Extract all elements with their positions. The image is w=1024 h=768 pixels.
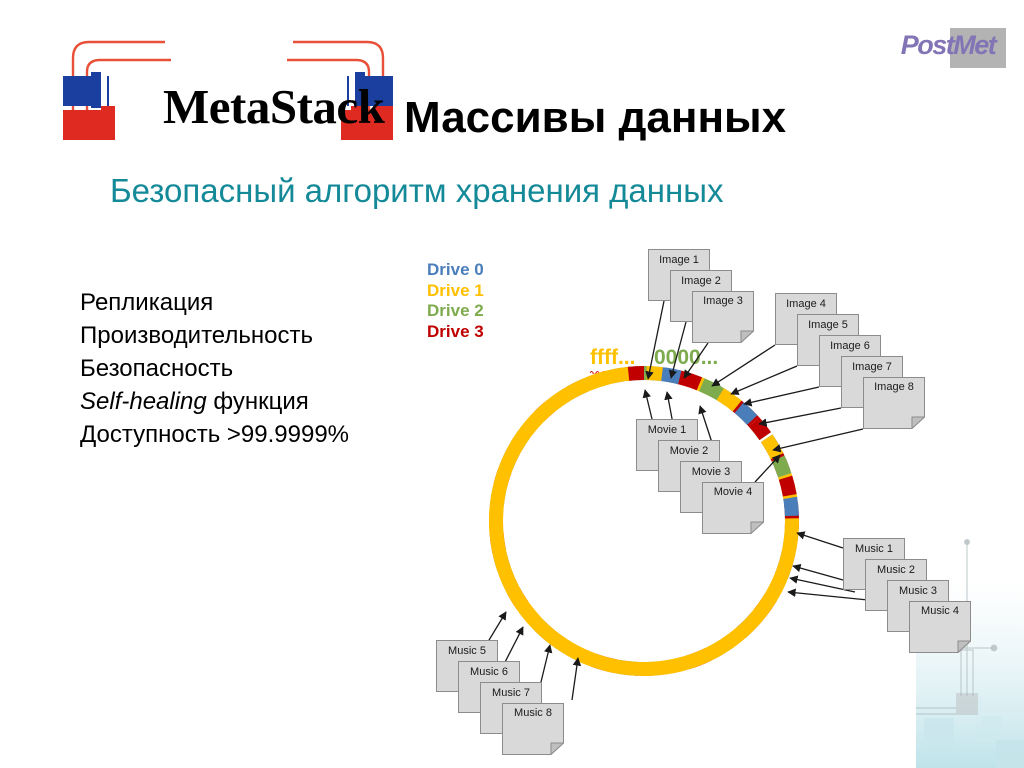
ring-segment — [735, 402, 758, 425]
ring-segment — [717, 388, 742, 411]
ring-segment — [770, 451, 791, 475]
ring-segment — [729, 397, 759, 426]
feature-label: Безопасность — [80, 355, 233, 382]
document-card-label: Image 3 — [692, 295, 754, 307]
document-card-label: Music 1 — [844, 543, 904, 555]
ring-segment — [498, 569, 518, 591]
ring-segment — [534, 401, 555, 422]
mapping-arrow — [793, 566, 843, 580]
feature-label: Репликация — [80, 289, 213, 316]
ring-segment — [549, 632, 572, 654]
legend-item-drive-1: Drive 1 — [427, 281, 484, 302]
spellcheck-squiggle-icon — [590, 370, 636, 374]
document-card-label: Image 5 — [798, 319, 858, 331]
hash-end-label: 0000... — [654, 346, 718, 370]
ring-segment — [494, 468, 512, 487]
mapping-arrow — [572, 658, 578, 700]
ring-segment — [567, 643, 594, 666]
page-title: Массивы данных — [404, 93, 786, 143]
document-card-label: Image 4 — [776, 298, 836, 310]
hash-start-text: ffff... — [590, 346, 635, 369]
ring-segment — [519, 604, 541, 627]
ring-segment — [591, 653, 617, 673]
mapping-arrow — [744, 387, 819, 404]
mapping-arrow — [759, 408, 841, 424]
ring-segment — [549, 388, 572, 410]
document-card-label: Music 3 — [888, 585, 948, 597]
ring-segment — [754, 594, 777, 619]
document-card-label: Music 6 — [459, 666, 519, 678]
mapping-arrow — [797, 533, 843, 548]
document-card-label: Music 5 — [437, 645, 497, 657]
ring-segment — [664, 368, 682, 385]
ring-segment — [680, 371, 702, 390]
metastack-logo: MetaStack — [55, 28, 415, 148]
postmet-logo: PostMet — [890, 28, 1006, 68]
metastack-wordmark: MetaStack — [163, 78, 384, 135]
hash-start-label: ffff... — [590, 346, 635, 370]
feature-label-emphasis: Self-healing — [80, 388, 207, 415]
feature-label: Производительность — [80, 322, 313, 349]
ring-segment — [766, 576, 787, 598]
document-card-label: Music 2 — [866, 564, 926, 576]
ring-segment — [782, 531, 798, 551]
ring-segment — [489, 507, 504, 529]
document-card-label: Music 7 — [481, 687, 541, 699]
slide-root: MetaStack PostMet Массивы данных Безопас… — [0, 0, 1024, 768]
ring-segment — [489, 531, 506, 553]
feature-item: Доступность >99.9999% — [80, 418, 349, 451]
feature-label: функция — [207, 388, 309, 415]
ring-segment — [533, 619, 556, 642]
ring-segment — [737, 612, 763, 638]
ring-segment — [712, 385, 735, 406]
mapping-arrow — [773, 429, 863, 450]
document-card: Music 4 — [909, 601, 971, 653]
ring-segment — [761, 434, 783, 459]
document-card-label: Movie 4 — [702, 486, 764, 498]
document-card-label: Image 6 — [820, 340, 880, 352]
ring-segment — [685, 648, 712, 669]
postmet-wordmark: PostMet — [890, 30, 1006, 61]
document-card-label: Movie 2 — [659, 445, 719, 457]
feature-item: Репликация — [80, 286, 349, 319]
ring-segment — [749, 417, 771, 440]
ring-segment — [775, 550, 796, 579]
document-card-label: Movie 1 — [637, 424, 697, 436]
ring-segment — [567, 378, 589, 399]
document-card: Music 8 — [502, 703, 564, 755]
ring-segment — [493, 553, 511, 572]
legend-item-drive-0: Drive 0 — [427, 260, 484, 281]
ring-segment — [499, 448, 519, 470]
ring-segment — [676, 370, 695, 388]
ring-segment — [508, 430, 529, 453]
ring-segment — [783, 497, 799, 516]
hash-end-text: 0000... — [654, 346, 718, 369]
ring-segment — [721, 629, 744, 651]
ring-segment — [699, 378, 721, 399]
feature-item: Производительность — [80, 319, 349, 352]
document-card-label: Music 4 — [909, 605, 971, 617]
mapping-arrow — [731, 366, 797, 394]
document-card-label: Image 7 — [842, 361, 902, 373]
ring-segment — [641, 661, 660, 676]
document-card-label: Image 1 — [649, 254, 709, 266]
ring-segment — [778, 473, 797, 501]
feature-list: Репликация Производительность Безопаснос… — [80, 286, 349, 451]
mapping-arrow — [645, 390, 652, 419]
document-card-label: Image 8 — [863, 381, 925, 393]
ring-segment — [779, 476, 797, 497]
document-card: Image 8 — [863, 377, 925, 429]
mapping-arrow — [712, 345, 775, 386]
ring-segment — [617, 660, 639, 676]
page-subtitle: Безопасный алгоритм хранения данных — [110, 172, 723, 210]
ring-segment — [750, 419, 771, 440]
feature-item: Безопасность — [80, 352, 349, 385]
document-card: Movie 4 — [702, 482, 764, 534]
drive-legend: Drive 0 Drive 1 Drive 2 Drive 3 — [427, 260, 484, 342]
ring-segment — [708, 641, 726, 660]
ring-segment — [520, 413, 542, 436]
legend-item-drive-2: Drive 2 — [427, 301, 484, 322]
ring-segment — [761, 434, 781, 454]
document-card-label: Music 8 — [502, 707, 564, 719]
document-card: Image 3 — [692, 291, 754, 343]
feature-label: Доступность >99.9999% — [80, 421, 349, 448]
feature-item: Self-healing функция — [80, 385, 349, 418]
document-card-label: Image 2 — [671, 275, 731, 287]
mapping-arrow — [755, 455, 780, 482]
ring-segment — [661, 657, 687, 675]
document-card-label: Movie 3 — [681, 466, 741, 478]
mapping-arrow — [540, 645, 550, 686]
ring-segment — [490, 486, 507, 506]
ring-segment — [772, 455, 792, 477]
ring-segment — [507, 587, 528, 610]
mapping-arrow — [788, 592, 868, 600]
legend-item-drive-3: Drive 3 — [427, 322, 484, 343]
ring-segment — [784, 502, 799, 529]
ring-segment — [692, 375, 717, 396]
